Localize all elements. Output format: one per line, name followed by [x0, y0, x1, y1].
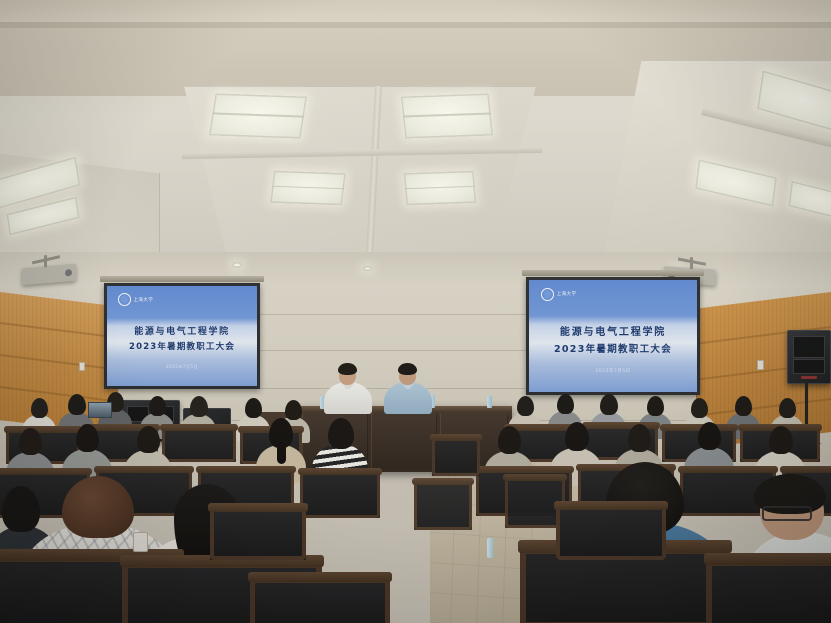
university-emblem-icon — [118, 293, 131, 306]
right-wall-light-switch[interactable] — [757, 360, 764, 370]
chair-back[interactable] — [162, 428, 236, 462]
laptop[interactable] — [88, 402, 112, 418]
light-panel-4 — [404, 171, 477, 205]
empty-chair[interactable] — [414, 482, 472, 530]
chair-back-foreground[interactable] — [250, 578, 390, 623]
water-bottle — [487, 396, 492, 408]
water-bottle-on-floor — [487, 538, 493, 558]
slide-content-left: 上海大学 能源与电气工程学院 2023年暑期教职工大会 2023年7月5日 — [107, 286, 257, 386]
light-panel-10 — [232, 262, 242, 268]
curly-hair — [62, 476, 134, 538]
slide-logo-left: 上海大学 — [118, 293, 154, 306]
light-panel-1 — [209, 93, 307, 138]
slide-titles-right: 能源与电气工程学院 2023年暑期教职工大会 — [529, 323, 697, 355]
slide-date-right: 2023年7月5日 — [529, 368, 697, 374]
presenter-white-shirt — [324, 360, 372, 412]
ponytail — [277, 442, 286, 464]
slide-title-line-1: 能源与电气工程学院 — [107, 324, 257, 337]
conference-hall-photo: 上海大学 能源与电气工程学院 2023年暑期教职工大会 2023年7月5日 上海… — [0, 0, 831, 623]
presenter-blue-shirt — [384, 360, 432, 412]
loudspeaker-right — [787, 330, 831, 384]
light-panel-3 — [270, 171, 346, 206]
presenter-hair — [398, 363, 417, 375]
slide-title-line-2: 2023年暑期教职工大会 — [529, 341, 697, 355]
empty-chair[interactable] — [432, 438, 480, 476]
left-projection-screen[interactable]: 上海大学 能源与电气工程学院 2023年暑期教职工大会 2023年7月5日 — [104, 283, 260, 389]
slide-date-left: 2023年7月5日 — [107, 364, 257, 370]
eyeglasses-icon — [762, 506, 812, 521]
university-logo-text: 上海大学 — [557, 291, 577, 297]
presenter-hair — [338, 363, 357, 375]
ceiling — [0, 0, 831, 290]
slide-title-line-2: 2023年暑期教职工大会 — [107, 340, 257, 352]
chair-back-foreground[interactable] — [706, 560, 831, 623]
light-panel-11 — [363, 266, 372, 271]
smartphone[interactable] — [133, 532, 148, 552]
head-table-front-panel — [371, 413, 437, 469]
chair-back[interactable] — [300, 472, 380, 518]
slide-titles-left: 能源与电气工程学院 2023年暑期教职工大会 — [107, 324, 257, 352]
speaker-led-indicator — [801, 376, 817, 379]
university-emblem-icon — [541, 288, 554, 301]
screen-roller-left — [100, 276, 264, 282]
slide-content-right: 上海大学 能源与电气工程学院 2023年暑期教职工大会 2023年7月5日 — [529, 280, 697, 392]
left-wall-light-switch[interactable] — [79, 362, 85, 371]
chair-back[interactable] — [210, 508, 306, 560]
light-panel-2 — [401, 93, 493, 138]
slide-title-line-1: 能源与电气工程学院 — [529, 323, 697, 338]
right-projection-screen[interactable]: 上海大学 能源与电气工程学院 2023年暑期教职工大会 2023年7月5日 — [526, 277, 700, 395]
screen-roller-right — [522, 270, 704, 276]
chair-back[interactable] — [556, 506, 666, 560]
slide-logo-right: 上海大学 — [541, 288, 577, 301]
university-logo-text: 上海大学 — [134, 297, 154, 303]
